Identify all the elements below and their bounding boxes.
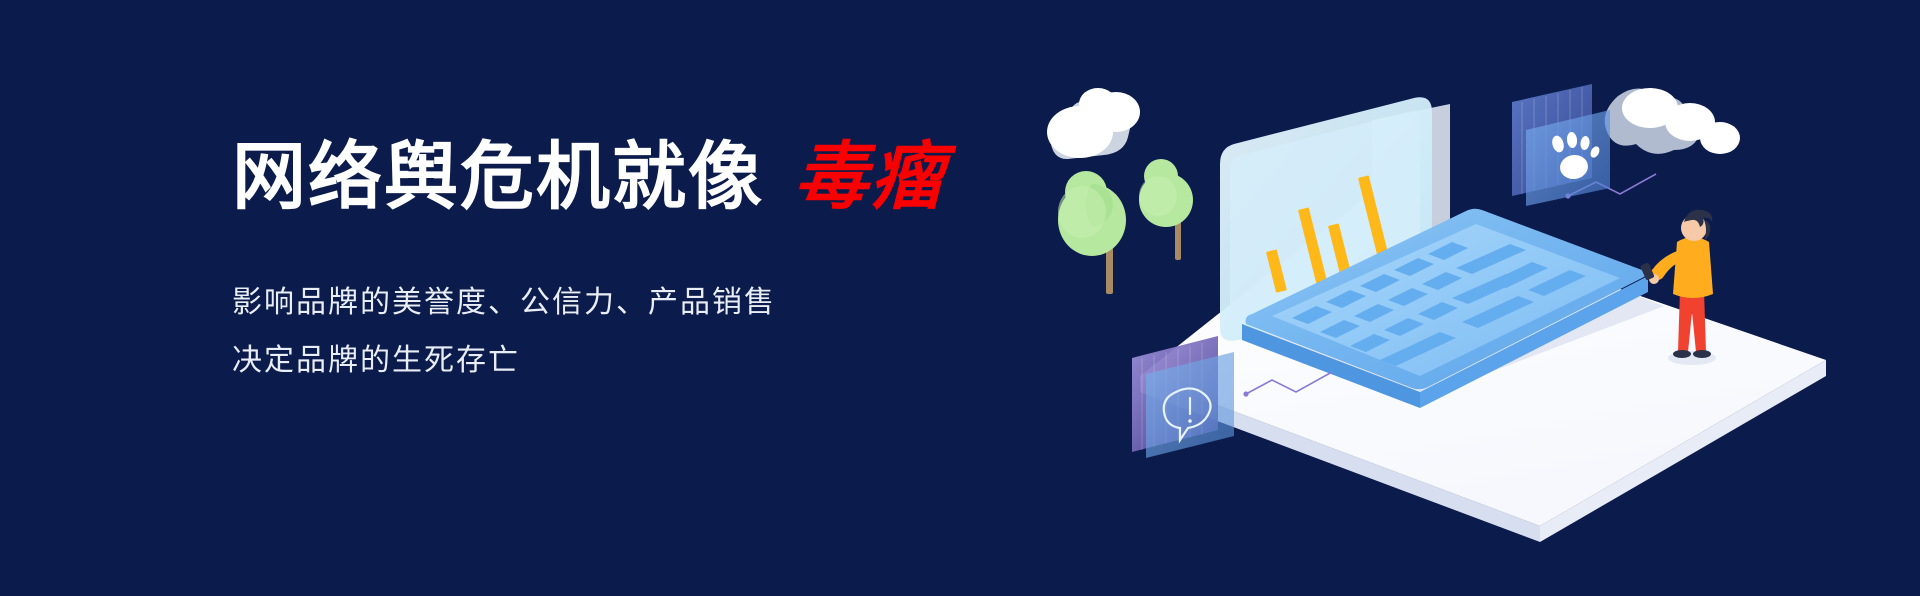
hero-banner: 网络舆危机就像毒瘤 影响品牌的美誉度、公信力、产品销售 决定品牌的生死存亡 xyxy=(0,0,1920,596)
cloud-left-icon xyxy=(1047,88,1140,159)
headline-accent-text: 毒瘤 xyxy=(794,140,946,214)
tree-small-icon xyxy=(1139,159,1193,260)
page-title: 网络舆危机就像毒瘤 xyxy=(232,140,1032,214)
subtitle-line-1: 影响品牌的美誉度、公信力、产品销售 xyxy=(232,274,1032,332)
person-shirt xyxy=(1673,237,1713,298)
headline-main-text: 网络舆危机就像 xyxy=(232,135,764,218)
baidu-paw-panel xyxy=(1512,84,1610,206)
cloud-right-icon xyxy=(1605,88,1740,154)
tree-large-icon xyxy=(1058,171,1126,294)
subtitle-line-2: 决定品牌的生死存亡 xyxy=(232,332,1032,390)
hero-subtitle-block: 影响品牌的美誉度、公信力、产品销售 决定品牌的生死存亡 xyxy=(232,274,1032,390)
hero-text-block: 网络舆危机就像毒瘤 影响品牌的美誉度、公信力、产品销售 决定品牌的生死存亡 xyxy=(232,140,1032,390)
hero-illustration xyxy=(1020,40,1920,560)
